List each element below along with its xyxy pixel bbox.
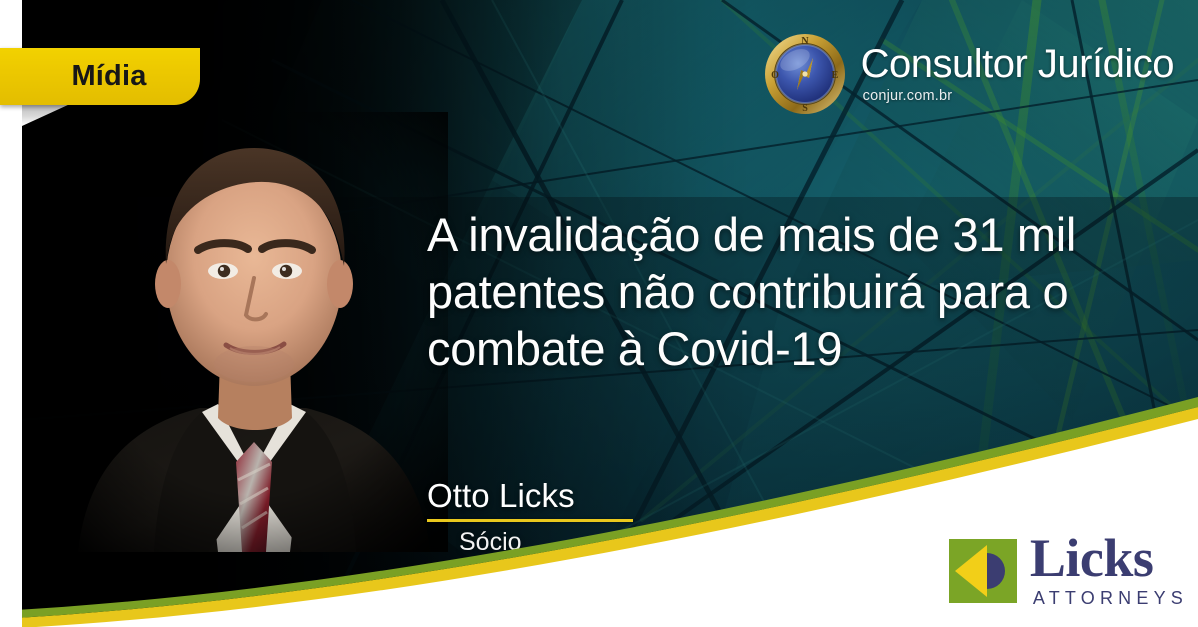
firm-logo: Licks ATTORNEYS bbox=[947, 533, 1188, 609]
publisher-url: conjur.com.br bbox=[863, 88, 953, 104]
svg-text:O: O bbox=[771, 70, 779, 81]
publisher-text: Consultor Jurídico conjur.com.br bbox=[861, 44, 1174, 104]
portrait-photo bbox=[58, 112, 448, 552]
byline-rule bbox=[427, 519, 633, 522]
svg-text:S: S bbox=[802, 103, 808, 114]
firm-subtitle: ATTORNEYS bbox=[1033, 588, 1188, 609]
licks-flag-mark-icon bbox=[947, 535, 1019, 607]
firm-text: Licks ATTORNEYS bbox=[1030, 533, 1188, 609]
publisher-name: Consultor Jurídico bbox=[861, 44, 1174, 85]
svg-text:N: N bbox=[801, 36, 809, 47]
publisher-logo: N E S O Consultor Jurídico conjur.com.br bbox=[763, 32, 1174, 116]
byline-role: Sócio bbox=[427, 528, 633, 557]
firm-name: Licks bbox=[1030, 533, 1154, 583]
compass-icon: N E S O bbox=[763, 32, 847, 116]
media-badge-label: Mídia bbox=[53, 60, 146, 93]
svg-text:E: E bbox=[831, 70, 838, 81]
byline: Otto Licks Sócio bbox=[427, 477, 633, 557]
byline-name: Otto Licks bbox=[427, 477, 633, 515]
headline: A invalidação de mais de 31 mil patentes… bbox=[427, 206, 1127, 377]
media-card: Mídia bbox=[0, 0, 1198, 627]
media-badge: Mídia bbox=[0, 48, 200, 105]
